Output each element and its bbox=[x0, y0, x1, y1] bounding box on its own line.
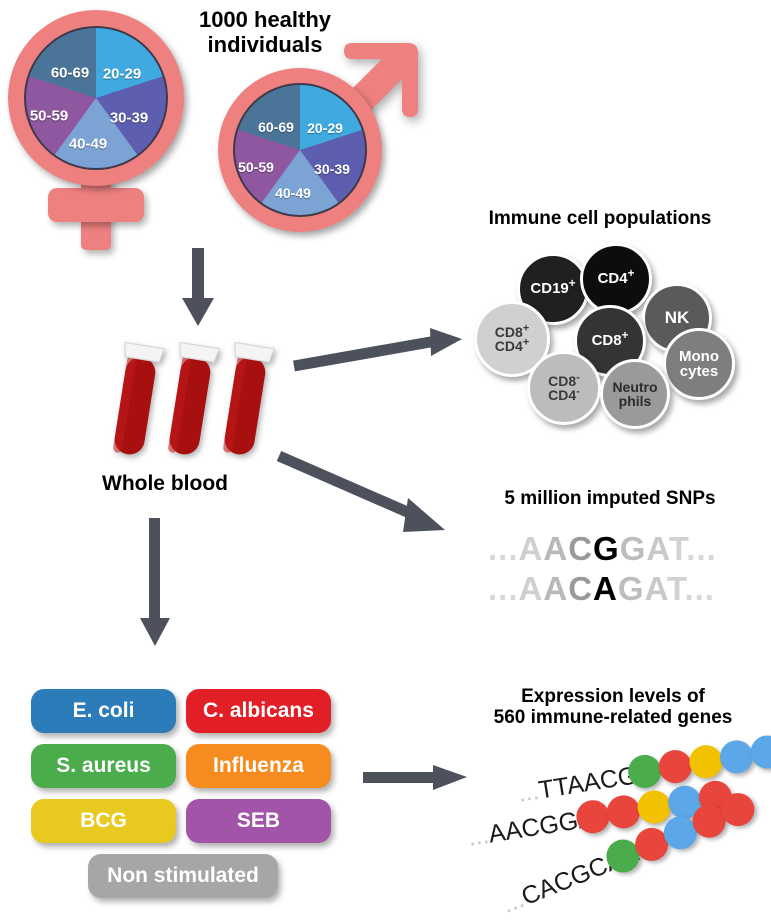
male-symbol: 20-29 30-39 40-49 50-59 60-69 bbox=[210, 30, 430, 240]
stimulus-seb-label: SEB bbox=[237, 809, 280, 833]
cell-monocytes: Monocytes bbox=[663, 328, 735, 400]
male-age-label-40-49: 40-49 bbox=[275, 185, 311, 201]
male-age-pie: 20-29 30-39 40-49 50-59 60-69 bbox=[233, 83, 367, 217]
bead-1-4 bbox=[718, 738, 756, 776]
bead-2-3 bbox=[635, 788, 673, 826]
arrow-cohort-to-blood bbox=[178, 248, 218, 328]
stimulus-e-coli-label: E. coli bbox=[73, 699, 135, 723]
male-age-label-50-59: 50-59 bbox=[238, 159, 274, 175]
snp-ref-suffix: ... bbox=[686, 530, 717, 567]
whole-blood-tubes bbox=[110, 335, 290, 465]
stimulus-non-stimulated-label: Non stimulated bbox=[107, 864, 259, 888]
bead-1-3 bbox=[687, 743, 725, 781]
bead-2-2 bbox=[605, 793, 643, 831]
cell-nk-label: NK bbox=[665, 309, 690, 327]
snps-heading: 5 million imputed SNPs bbox=[460, 488, 760, 509]
female-age-label-20-29: 20-29 bbox=[103, 66, 141, 83]
cell-cd8-label: CD8+ bbox=[592, 333, 629, 348]
cell-cd4-label: CD4+ bbox=[598, 271, 635, 286]
female-age-label-40-49: 40-49 bbox=[69, 136, 107, 153]
stimulus-bcg-label: BCG bbox=[80, 809, 127, 833]
stimulus-s-aureus-label: S. aureus bbox=[56, 754, 151, 778]
expression-heading: Expression levels of 560 immune-related … bbox=[463, 686, 763, 729]
female-age-label-30-39: 30-39 bbox=[110, 110, 148, 127]
stimulus-bcg[interactable]: BCG bbox=[31, 799, 176, 843]
female-symbol: 20-29 30-39 40-49 50-59 60-69 bbox=[8, 10, 198, 250]
stimulus-influenza-label: Influenza bbox=[213, 754, 304, 778]
male-age-label-20-29: 20-29 bbox=[307, 120, 343, 136]
snp-sequence-reference: ...AACGGAT... bbox=[488, 530, 717, 568]
female-age-label-60-69: 60-69 bbox=[51, 65, 89, 82]
immune-heading: Immune cell populations bbox=[450, 208, 750, 229]
stimulus-c-albicans-label: C. albicans bbox=[203, 699, 314, 723]
stimulus-s-aureus[interactable]: S. aureus bbox=[31, 744, 176, 788]
female-age-label-50-59: 50-59 bbox=[30, 108, 68, 125]
cell-cd8neg-cd4neg-label: CD8-CD4- bbox=[548, 374, 580, 403]
expression-strands: ...TTAACGG ...AACGGAT ...CACGCAA bbox=[440, 745, 771, 920]
immune-cell-cluster: CD19+ CD4+ NK CD8+CD4+ CD8+ Monocytes CD… bbox=[462, 243, 762, 423]
cell-cd8pos-cd4pos-label: CD8+CD4+ bbox=[495, 325, 529, 354]
arrow-blood-to-immune bbox=[290, 326, 470, 374]
female-age-pie: 20-29 30-39 40-49 50-59 60-69 bbox=[24, 26, 168, 170]
stimulus-non-stimulated[interactable]: Non stimulated bbox=[88, 854, 278, 898]
snp-ref-prefix: ... bbox=[488, 530, 519, 567]
cell-neutrophils-label: Neutrophils bbox=[612, 380, 657, 409]
snp-var-prefix: ... bbox=[488, 570, 519, 607]
cell-cd19-label: CD19+ bbox=[530, 281, 575, 296]
arrow-blood-to-stimuli bbox=[135, 518, 175, 648]
stimulus-c-albicans[interactable]: C. albicans bbox=[186, 689, 331, 733]
snp-var-suffix: ... bbox=[684, 570, 715, 607]
female-symbol-crossbar bbox=[48, 188, 144, 222]
cell-cd4: CD4+ bbox=[580, 243, 652, 315]
stimulus-e-coli[interactable]: E. coli bbox=[31, 689, 176, 733]
snp-var-highlight: A bbox=[593, 570, 618, 607]
snp-ref-highlight: G bbox=[593, 530, 620, 567]
bead-1-5 bbox=[748, 733, 771, 771]
snp-sequence-variant: ...AACAGAT... bbox=[488, 570, 715, 608]
whole-blood-label: Whole blood bbox=[75, 472, 255, 496]
stimulus-influenza[interactable]: Influenza bbox=[186, 744, 331, 788]
stimulus-seb[interactable]: SEB bbox=[186, 799, 331, 843]
cell-monocytes-label: Monocytes bbox=[679, 349, 719, 380]
arrow-blood-to-snps bbox=[275, 450, 455, 540]
cell-cd8neg-cd4neg: CD8-CD4- bbox=[527, 351, 601, 425]
male-age-label-30-39: 30-39 bbox=[314, 161, 350, 177]
male-age-label-60-69: 60-69 bbox=[258, 119, 294, 135]
cell-neutrophils: Neutrophils bbox=[600, 359, 670, 429]
study-design-diagram: 1000 healthy individuals 20-29 30-39 40-… bbox=[0, 0, 771, 922]
bead-1-2 bbox=[656, 748, 694, 786]
